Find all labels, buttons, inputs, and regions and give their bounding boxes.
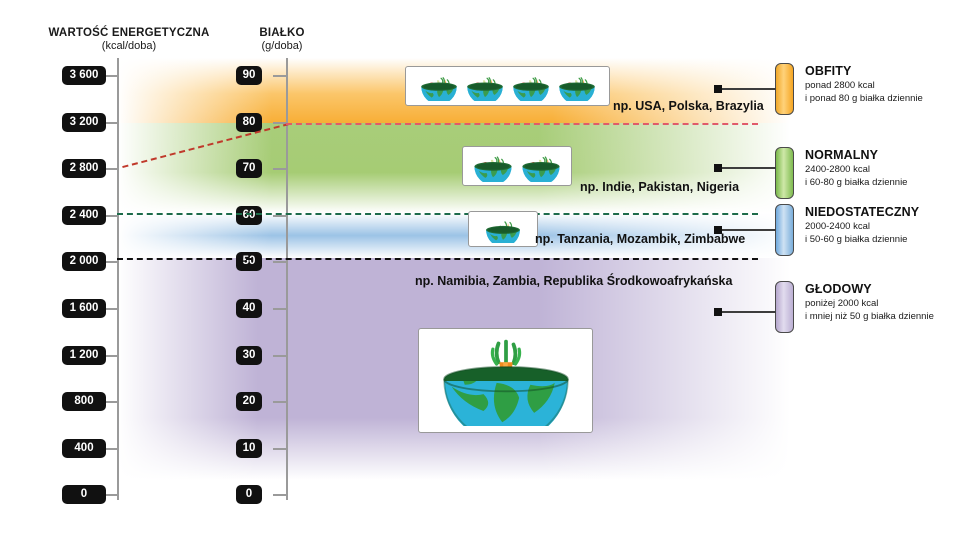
legend-leader-dot-obfity <box>714 85 722 93</box>
legend-desc-obfity: ponad 2800 kcal i ponad 80 g białka dzie… <box>805 80 923 105</box>
country-label-niedostateczny: np. Tanzania, Mozambik, Zimbabwe <box>535 232 745 246</box>
legend-desc-glodowy-line1: poniżej 2000 kcal <box>805 298 878 309</box>
kcal-axis-tick-label: 800 <box>62 392 106 411</box>
kcal-axis-tick-label: 1 600 <box>62 299 106 318</box>
country-label-normalny: np. Indie, Pakistan, Nigeria <box>580 180 739 194</box>
kcal-axis-tick-label: 1 200 <box>62 346 106 365</box>
legend-leader-dot-niedostateczny <box>714 226 722 234</box>
legend-leader-dot-glodowy <box>714 308 722 316</box>
protein-axis-tick-mark <box>273 494 286 496</box>
kcal-axis-tick-label: 2 800 <box>62 159 106 178</box>
legend-desc-glodowy-line2: i mniej niż 50 g białka dziennie <box>805 311 934 322</box>
protein-axis-tick-label: 70 <box>236 159 262 178</box>
protein-axis-tick-label: 20 <box>236 392 262 411</box>
legend-swatch-niedostateczny <box>775 204 794 256</box>
protein-axis-tick-label: 80 <box>236 113 262 132</box>
bowl-group-obfity <box>405 66 610 106</box>
protein-axis-title: BIAŁKO <box>226 26 338 40</box>
globe-bowl-food-icon <box>483 215 523 244</box>
globe-bowl-food-icon <box>418 71 460 101</box>
legend-text-niedostateczny: NIEDOSTATECZNY 2000-2400 kcal i 50-60 g … <box>805 205 919 246</box>
legend-leader-line-glodowy <box>722 311 776 313</box>
globe-bowl-carrot-icon <box>431 336 581 426</box>
legend-desc-normalny-line1: 2400-2800 kcal <box>805 164 870 175</box>
protein-axis-tick-label: 60 <box>236 206 262 225</box>
protein-axis-header: BIAŁKO (g/doba) <box>226 26 338 54</box>
legend-name-normalny: NORMALNY <box>805 148 907 162</box>
kcal-axis-tick-label: 0 <box>62 485 106 504</box>
kcal-axis-tick-label: 2 000 <box>62 252 106 271</box>
kcal-axis-header: WARTOŚĆ ENERGETYCZNA (kcal/doba) <box>44 26 214 54</box>
globe-bowl-food-icon <box>464 71 506 101</box>
legend-desc-obfity-line1: ponad 2800 kcal <box>805 80 875 91</box>
protein-axis-tick-mark <box>273 448 286 450</box>
legend-desc-glodowy: poniżej 2000 kcal i mniej niż 50 g białk… <box>805 298 934 323</box>
kcal-axis-tick-label: 3 600 <box>62 66 106 85</box>
legend-leader-line-normalny <box>722 167 776 169</box>
protein-axis-tick-label: 90 <box>236 66 262 85</box>
globe-bowl-food-icon <box>471 150 515 182</box>
bowl-group-normalny <box>462 146 572 186</box>
protein-axis-unit: (g/doba) <box>226 40 338 54</box>
kcal-axis-line <box>117 58 119 500</box>
protein-axis-tick-mark <box>273 75 286 77</box>
protein-axis-tick-mark <box>273 355 286 357</box>
legend-name-obfity: OBFITY <box>805 64 923 78</box>
protein-axis-tick-mark <box>273 308 286 310</box>
legend-leader-dot-normalny <box>714 164 722 172</box>
legend-name-glodowy: GŁODOWY <box>805 282 934 296</box>
protein-axis-tick-mark <box>273 168 286 170</box>
legend-desc-normalny-line2: i 60-80 g białka dziennie <box>805 177 907 188</box>
kcal-axis-tick-label: 3 200 <box>62 113 106 132</box>
protein-axis-tick-label: 0 <box>236 485 262 504</box>
protein-axis-tick-label: 30 <box>236 346 262 365</box>
legend-text-obfity: OBFITY ponad 2800 kcal i ponad 80 g biał… <box>805 64 923 105</box>
threshold-line-obfity <box>286 123 758 125</box>
legend-desc-obfity-line2: i ponad 80 g białka dziennie <box>805 93 923 104</box>
protein-axis-tick-mark <box>273 261 286 263</box>
threshold-line-niedostateczny <box>117 258 758 260</box>
protein-axis-tick-label: 10 <box>236 439 262 458</box>
legend-leader-line-obfity <box>722 88 776 90</box>
protein-axis-tick-mark <box>273 215 286 217</box>
legend-swatch-obfity <box>775 63 794 115</box>
legend-swatch-normalny <box>775 147 794 199</box>
legend-desc-normalny: 2400-2800 kcal i 60-80 g białka dziennie <box>805 164 907 189</box>
legend-desc-niedostateczny-line1: 2000-2400 kcal <box>805 221 870 232</box>
legend-text-normalny: NORMALNY 2400-2800 kcal i 60-80 g białka… <box>805 148 907 189</box>
bowl-group-niedostateczny <box>468 211 538 247</box>
globe-bowl-food-icon <box>510 71 552 101</box>
kcal-axis-title: WARTOŚĆ ENERGETYCZNA <box>44 26 214 40</box>
country-label-obfity: np. USA, Polska, Brazylia <box>613 99 764 113</box>
legend-desc-niedostateczny-line2: i 50-60 g białka dziennie <box>805 234 907 245</box>
legend-swatch-glodowy <box>775 281 794 333</box>
protein-axis-tick-label: 40 <box>236 299 262 318</box>
kcal-axis-tick-label: 400 <box>62 439 106 458</box>
legend-leader-line-niedostateczny <box>722 229 776 231</box>
legend-desc-niedostateczny: 2000-2400 kcal i 50-60 g białka dziennie <box>805 221 919 246</box>
kcal-axis-unit: (kcal/doba) <box>44 40 214 54</box>
kcal-axis-tick-label: 2 400 <box>62 206 106 225</box>
protein-axis-tick-mark <box>273 401 286 403</box>
globe-bowl-food-icon <box>519 150 563 182</box>
country-label-glodowy: np. Namibia, Zambia, Republika Środkowoa… <box>415 274 732 288</box>
globe-bowl-food-icon <box>556 71 598 101</box>
legend-text-glodowy: GŁODOWY poniżej 2000 kcal i mniej niż 50… <box>805 282 934 323</box>
protein-axis-tick-label: 50 <box>236 252 262 271</box>
bowl-group-glodowy <box>418 328 593 433</box>
legend-name-niedostateczny: NIEDOSTATECZNY <box>805 205 919 219</box>
threshold-line-normalny <box>117 213 758 215</box>
